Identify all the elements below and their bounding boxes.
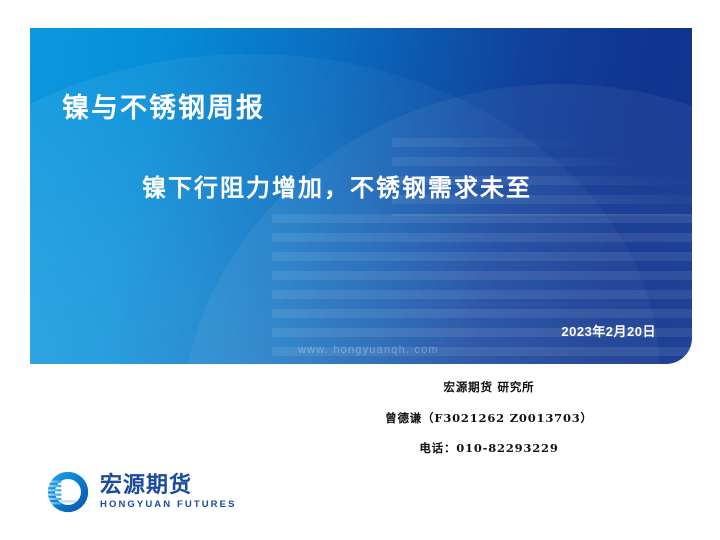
hero-stripes-decoration <box>272 214 692 364</box>
contact-phone: 电话：010-82293229 <box>324 443 654 455</box>
hongyuan-circle-logo-icon <box>44 468 92 516</box>
hero-banner: 镍与不锈钢周报 镍下行阻力增加，不锈钢需求未至 2023年2月20日 www. … <box>30 28 692 364</box>
page-title: 镍与不锈钢周报 <box>62 86 265 125</box>
research-department: 宏源期货 研究所 <box>324 382 654 394</box>
logo-name-cn: 宏源期货 <box>100 474 237 497</box>
slide-root: 镍与不锈钢周报 镍下行阻力增加，不锈钢需求未至 2023年2月20日 www. … <box>0 0 720 540</box>
company-logo: 宏源期货 HONGYUAN FUTURES <box>44 468 237 516</box>
page-subtitle: 镍下行阻力增加，不锈钢需求未至 <box>142 168 532 203</box>
report-date: 2023年2月20日 <box>561 321 656 340</box>
logo-name-en: HONGYUAN FUTURES <box>100 499 237 510</box>
analyst-credentials: 曾德谦（F3021262 Z0013703） <box>324 413 654 425</box>
logo-text-block: 宏源期货 HONGYUAN FUTURES <box>100 474 237 510</box>
website-watermark: www. hongyuanqh. com <box>298 344 439 356</box>
contact-block: 宏源期货 研究所 曾德谦（F3021262 Z0013703） 电话：010-8… <box>324 382 654 455</box>
